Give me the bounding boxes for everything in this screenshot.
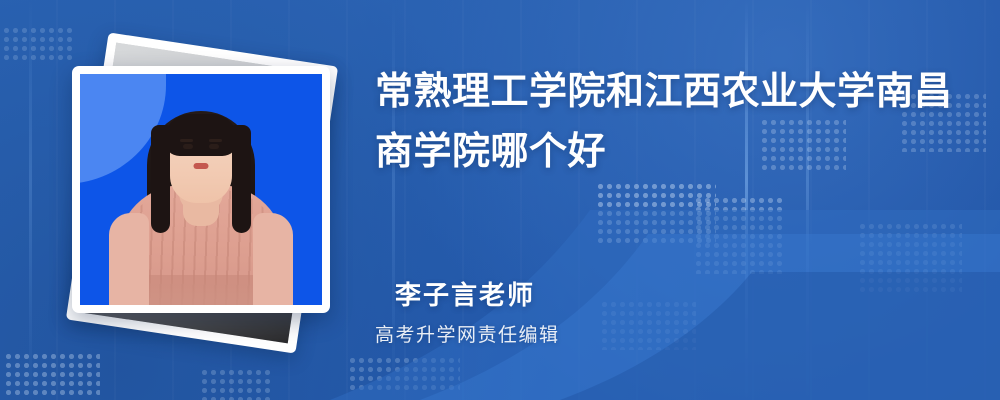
photo-card-stack [0,0,360,400]
portrait-hair-front [164,114,238,156]
portrait-lips [194,163,209,169]
portrait-eye-right [209,144,219,149]
female-teacher-portrait [80,74,322,305]
article-header-banner: 常熟理工学院和江西农业大学南昌商学院哪个好 李子言老师 高考升学网责任编辑 [0,0,1000,400]
portrait-hair-left [151,125,170,233]
portrait-eyebrow-right [209,139,222,142]
banner-text-column: 常熟理工学院和江西农业大学南昌商学院哪个好 李子言老师 高考升学网责任编辑 [375,0,975,400]
portrait-photo-card [72,66,330,313]
author-role: 高考升学网责任编辑 [375,320,560,347]
portrait-hair-right [232,125,251,233]
page-title: 常熟理工学院和江西农业大学南昌商学院哪个好 [375,62,953,182]
portrait-shoulder-left [109,213,149,305]
portrait-shoulder-right [253,213,293,305]
portrait-eyebrow-left [180,139,193,142]
author-name: 李子言老师 [395,275,535,312]
portrait-photo [80,74,322,305]
portrait-eye-left [183,144,193,149]
